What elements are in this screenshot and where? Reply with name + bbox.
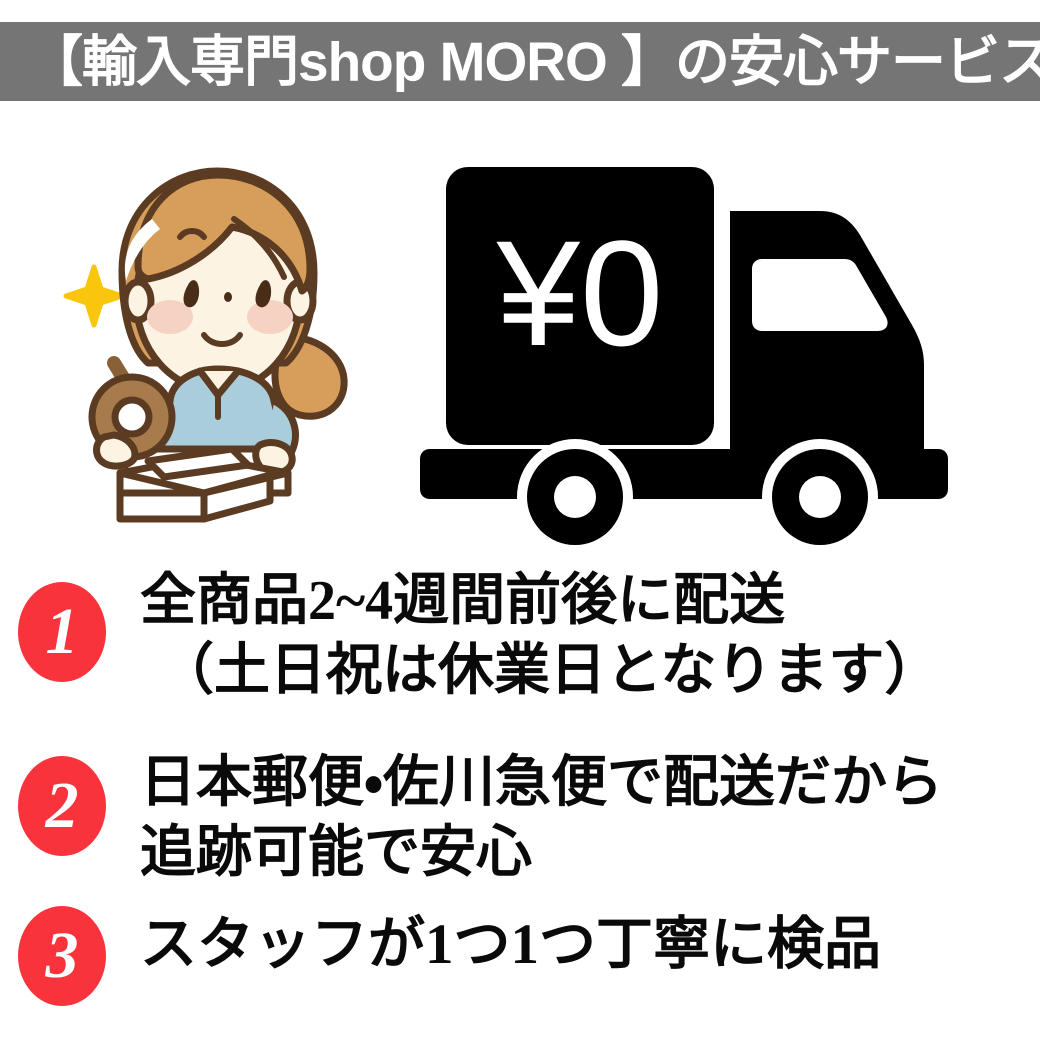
free-shipping-truck-illustration: ¥0 [420,149,980,554]
feature-item-2: 2 日本郵便・佐川急便で配送だから 追跡可能で安心 [0,748,1040,888]
illustration-row: ¥0 [0,101,1040,541]
feature-number-badge-2: 2 [18,756,106,856]
staff-woman-svg [52,149,402,529]
truck-price-label: ¥0 [496,209,664,377]
feature-text-2: 日本郵便・佐川急便で配送だから 追跡可能で安心 [140,748,1030,888]
feature-number-badge-3: 3 [18,906,106,1006]
feature-list: 1 全商品2~4週間前後に配送 （土日祝は休業日となります） 2 日本郵便・佐川… [0,552,1040,1040]
feature-line: （土日祝は休業日となります） [140,636,1030,706]
header-banner: 【輸入専門shop MORO 】の安心サービス [0,22,1040,101]
truck-svg: ¥0 [420,149,980,549]
feature-item-3: 3 スタッフが1つ1つ丁寧に検品 [0,902,1040,1002]
feature-line: 全商品2~4週間前後に配送 [140,566,1030,636]
truck-cab [730,211,924,479]
feature-line: スタッフが1つ1つ丁寧に検品 [140,910,1030,980]
sparkle-icon [66,267,122,325]
feature-item-1: 1 全商品2~4週間前後に配送 （土日祝は休業日となります） [0,566,1040,706]
feature-line: 日本郵便・佐川急便で配送だから [140,748,1030,818]
promo-banner-page: 【輸入専門shop MORO 】の安心サービス [0,0,1040,1040]
page-title: 【輸入専門shop MORO 】の安心サービス [28,34,1040,89]
feature-line: 追跡可能で安心 [140,818,1030,888]
feature-number-badge-1: 1 [18,582,106,682]
feature-text-3: スタッフが1つ1つ丁寧に検品 [140,910,1030,980]
feature-text-1: 全商品2~4週間前後に配送 （土日祝は休業日となります） [140,566,1030,706]
staff-woman-illustration [52,149,402,534]
